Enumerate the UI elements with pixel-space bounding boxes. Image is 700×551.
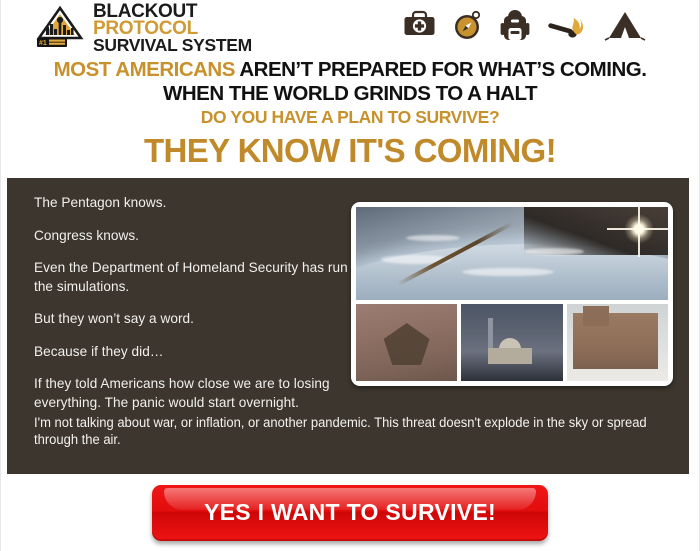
brick-tower-shape xyxy=(583,306,609,326)
body-paragraph: If they told Americans how close we are … xyxy=(34,375,352,412)
collage-bottom-row xyxy=(356,304,668,381)
sales-landing-page: #1 BLACKOUT PROTOCOL SURVIVAL SYSTEM xyxy=(0,0,700,551)
brick-building-image xyxy=(567,304,668,381)
first-aid-kit-icon xyxy=(403,10,436,46)
headline-block: MOST AMERICANS AREN’T PREPARED FOR WHAT’… xyxy=(1,56,699,177)
brand-logo[interactable]: #1 BLACKOUT PROTOCOL SURVIVAL SYSTEM xyxy=(35,2,252,54)
pentagon-aerial-image xyxy=(356,304,457,381)
svg-text:#1: #1 xyxy=(39,40,47,47)
cta-zone: YES I WANT TO SURVIVE! xyxy=(1,474,699,551)
brand-line-survival-system: SURVIVAL SYSTEM xyxy=(93,37,252,54)
body-paragraph: But they won’t say a word. xyxy=(34,310,352,329)
body-copy: The Pentagon knows. Congress knows. Even… xyxy=(34,194,352,412)
cta-button-label: YES I WANT TO SURVIVE! xyxy=(204,499,496,525)
sun-flare-icon xyxy=(624,214,654,244)
match-flame-icon xyxy=(547,10,587,47)
body-paragraph: Congress knows. xyxy=(34,227,352,246)
headline-line-2: WHEN THE WORLD GRINDS TO A HALT xyxy=(15,82,685,106)
blackout-triangle-logo-icon: #1 xyxy=(35,5,85,51)
body-paragraph: Even the Department of Homeland Security… xyxy=(34,259,352,296)
survival-icon-row xyxy=(403,9,681,47)
yes-i-want-to-survive-button[interactable]: YES I WANT TO SURVIVE! xyxy=(152,485,548,541)
cloud-band xyxy=(406,235,460,241)
closing-paragraph: I'm not talking about war, or inflation,… xyxy=(34,414,652,448)
page-header: #1 BLACKOUT PROTOCOL SURVIVAL SYSTEM xyxy=(1,0,699,56)
earth-from-space-image xyxy=(356,207,668,300)
headline-gold-phrase: MOST AMERICANS xyxy=(54,58,235,81)
body-paragraph: The Pentagon knows. xyxy=(34,194,352,213)
headline-main: THEY KNOW IT'S COMING! xyxy=(15,129,685,171)
headline-line-1: MOST AMERICANS AREN’T PREPARED FOR WHAT’… xyxy=(15,58,685,82)
headline-black-phrase: AREN’T PREPARED FOR WHAT’S COMING. xyxy=(239,58,646,81)
compass-icon xyxy=(453,10,483,46)
backpack-icon xyxy=(500,9,530,47)
body-paragraph: Because if they did… xyxy=(34,343,352,362)
image-collage xyxy=(351,202,673,386)
brand-wordmark: BLACKOUT PROTOCOL SURVIVAL SYSTEM xyxy=(93,2,252,54)
tent-icon xyxy=(604,10,646,47)
headline-line-3: DO YOU HAVE A PLAN TO SURVIVE? xyxy=(15,106,685,129)
cloud-band xyxy=(524,248,584,255)
dark-content-panel: The Pentagon knows. Congress knows. Even… xyxy=(7,178,689,486)
capitol-base-shape xyxy=(488,348,532,364)
pentagon-building-shape xyxy=(384,323,430,365)
washington-dc-skyline-image xyxy=(461,304,562,381)
